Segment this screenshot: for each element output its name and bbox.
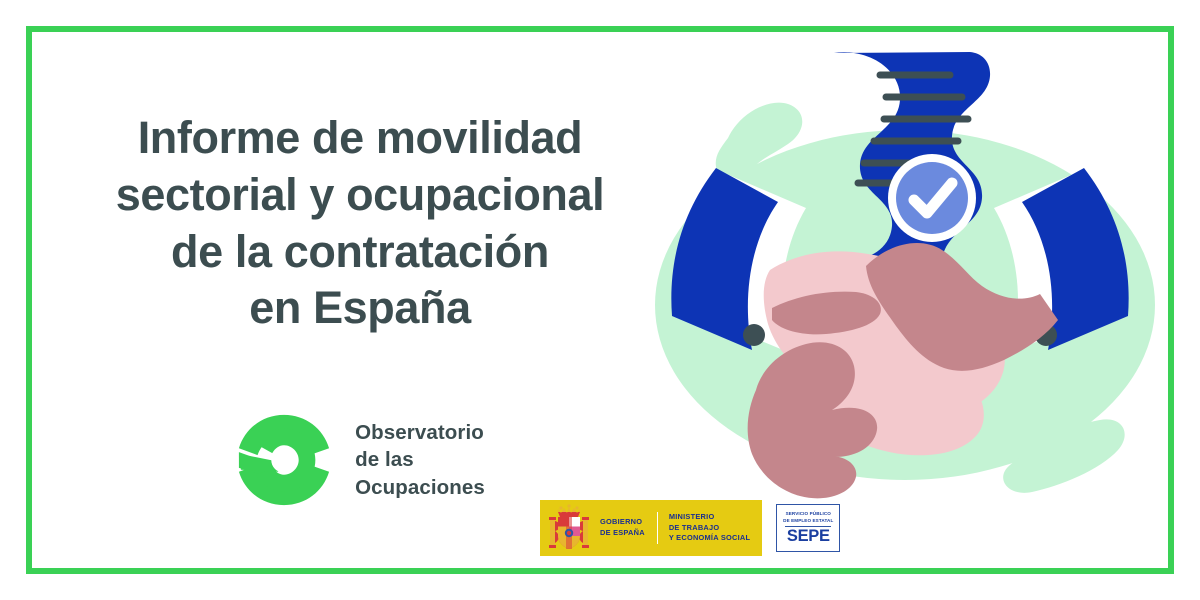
gobierno-ministerio-plate: GOBIERNO DE ESPAÑA MINISTERIO DE TRABAJO…	[540, 500, 762, 556]
gobierno-line-1: GOBIERNO	[600, 517, 645, 528]
sepe-logo: SERVICIO PÚBLICO DE EMPLEO ESTATAL SEPE	[776, 504, 840, 552]
title-line-3: de la contratación	[70, 224, 650, 281]
title-line-1: Informe de movilidad	[70, 110, 650, 167]
left-cuff-button	[743, 324, 765, 346]
sepe-subtitle-line-1: SERVICIO PÚBLICO	[783, 511, 833, 518]
page-title: Informe de movilidad sectorial y ocupaci…	[70, 110, 650, 337]
poster-canvas: Informe de movilidad sectorial y ocupaci…	[0, 0, 1200, 600]
gobierno-line-2: DE ESPAÑA	[600, 528, 645, 539]
brand-line-1: Observatorio	[355, 419, 485, 446]
sepe-subtitle-line-2: DE EMPLEO ESTATAL	[783, 518, 833, 525]
handshake-illustration	[620, 20, 1180, 500]
spain-coat-of-arms-icon	[546, 503, 592, 553]
observatorio-logo-text: Observatorio de las Ocupaciones	[355, 419, 485, 501]
observatorio-logo: Observatorio de las Ocupaciones	[235, 411, 485, 509]
brand-line-2: de las	[355, 446, 485, 473]
ministerio-line-1: MINISTERIO	[669, 512, 750, 523]
title-line-4: en España	[70, 280, 650, 337]
verified-badge	[888, 154, 976, 242]
ministerio-line-2: DE TRABAJO	[669, 523, 750, 534]
logo-inner-dot	[271, 447, 296, 472]
sepe-wordmark: SEPE	[787, 528, 830, 545]
observatorio-logo-mark	[235, 411, 333, 509]
government-logo-strip: GOBIERNO DE ESPAÑA MINISTERIO DE TRABAJO…	[540, 500, 840, 556]
title-line-2: sectorial y ocupacional	[70, 167, 650, 224]
ministerio-label: MINISTERIO DE TRABAJO Y ECONOMÍA SOCIAL	[657, 512, 762, 544]
gobierno-de-espana-label: GOBIERNO DE ESPAÑA	[596, 517, 657, 538]
brand-line-3: Ocupaciones	[355, 474, 485, 501]
left-content-column: Informe de movilidad sectorial y ocupaci…	[60, 80, 660, 500]
badge-circle	[896, 162, 968, 234]
sepe-subtitle: SERVICIO PÚBLICO DE EMPLEO ESTATAL	[783, 511, 833, 524]
ministerio-line-3: Y ECONOMÍA SOCIAL	[669, 533, 750, 544]
